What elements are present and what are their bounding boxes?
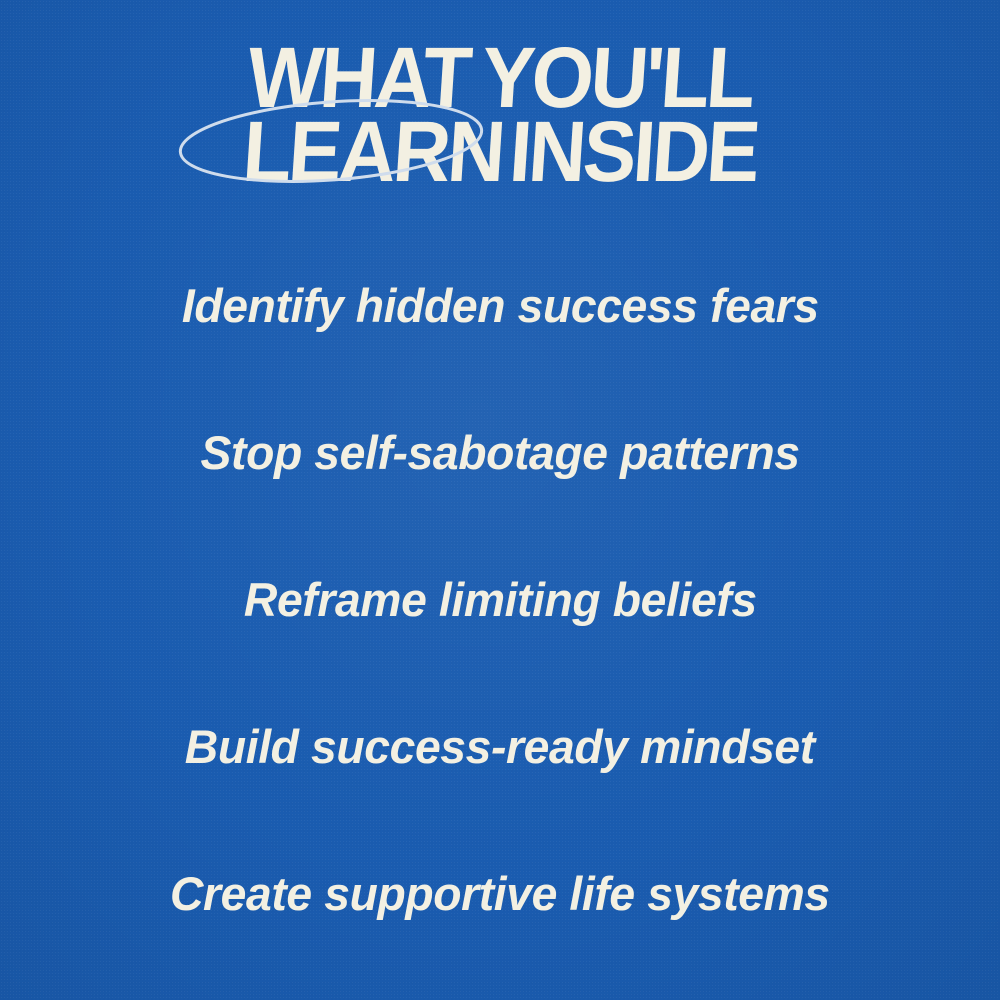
list-item-label: Identify hidden success fears [182,280,819,332]
list-item-label: Create supportive life systems [170,868,830,920]
headline-line-2: LEARNINSIDE [33,116,968,188]
list-item: Build success-ready mindset [0,673,1000,820]
list-item: Create supportive life systems [0,820,1000,967]
headline-word-inside: INSIDE [507,104,760,200]
list-item: Stop self-sabotage patterns [0,379,1000,526]
list-item: Reframe limiting beliefs [0,526,1000,673]
list-item: Identify hidden success fears [0,232,1000,379]
list-item-label: Stop self-sabotage patterns [200,427,799,479]
list-item-label: Reframe limiting beliefs [244,574,757,626]
headline-word-learn: LEARN [240,104,505,200]
headline-block: WHATYOU'LL LEARNINSIDE [0,42,1000,188]
slide-canvas: WHATYOU'LL LEARNINSIDE Identify hidden s… [0,0,1000,1000]
learn-list: Identify hidden success fears Stop self-… [0,232,1000,967]
list-item-label: Build success-ready mindset [185,721,815,773]
